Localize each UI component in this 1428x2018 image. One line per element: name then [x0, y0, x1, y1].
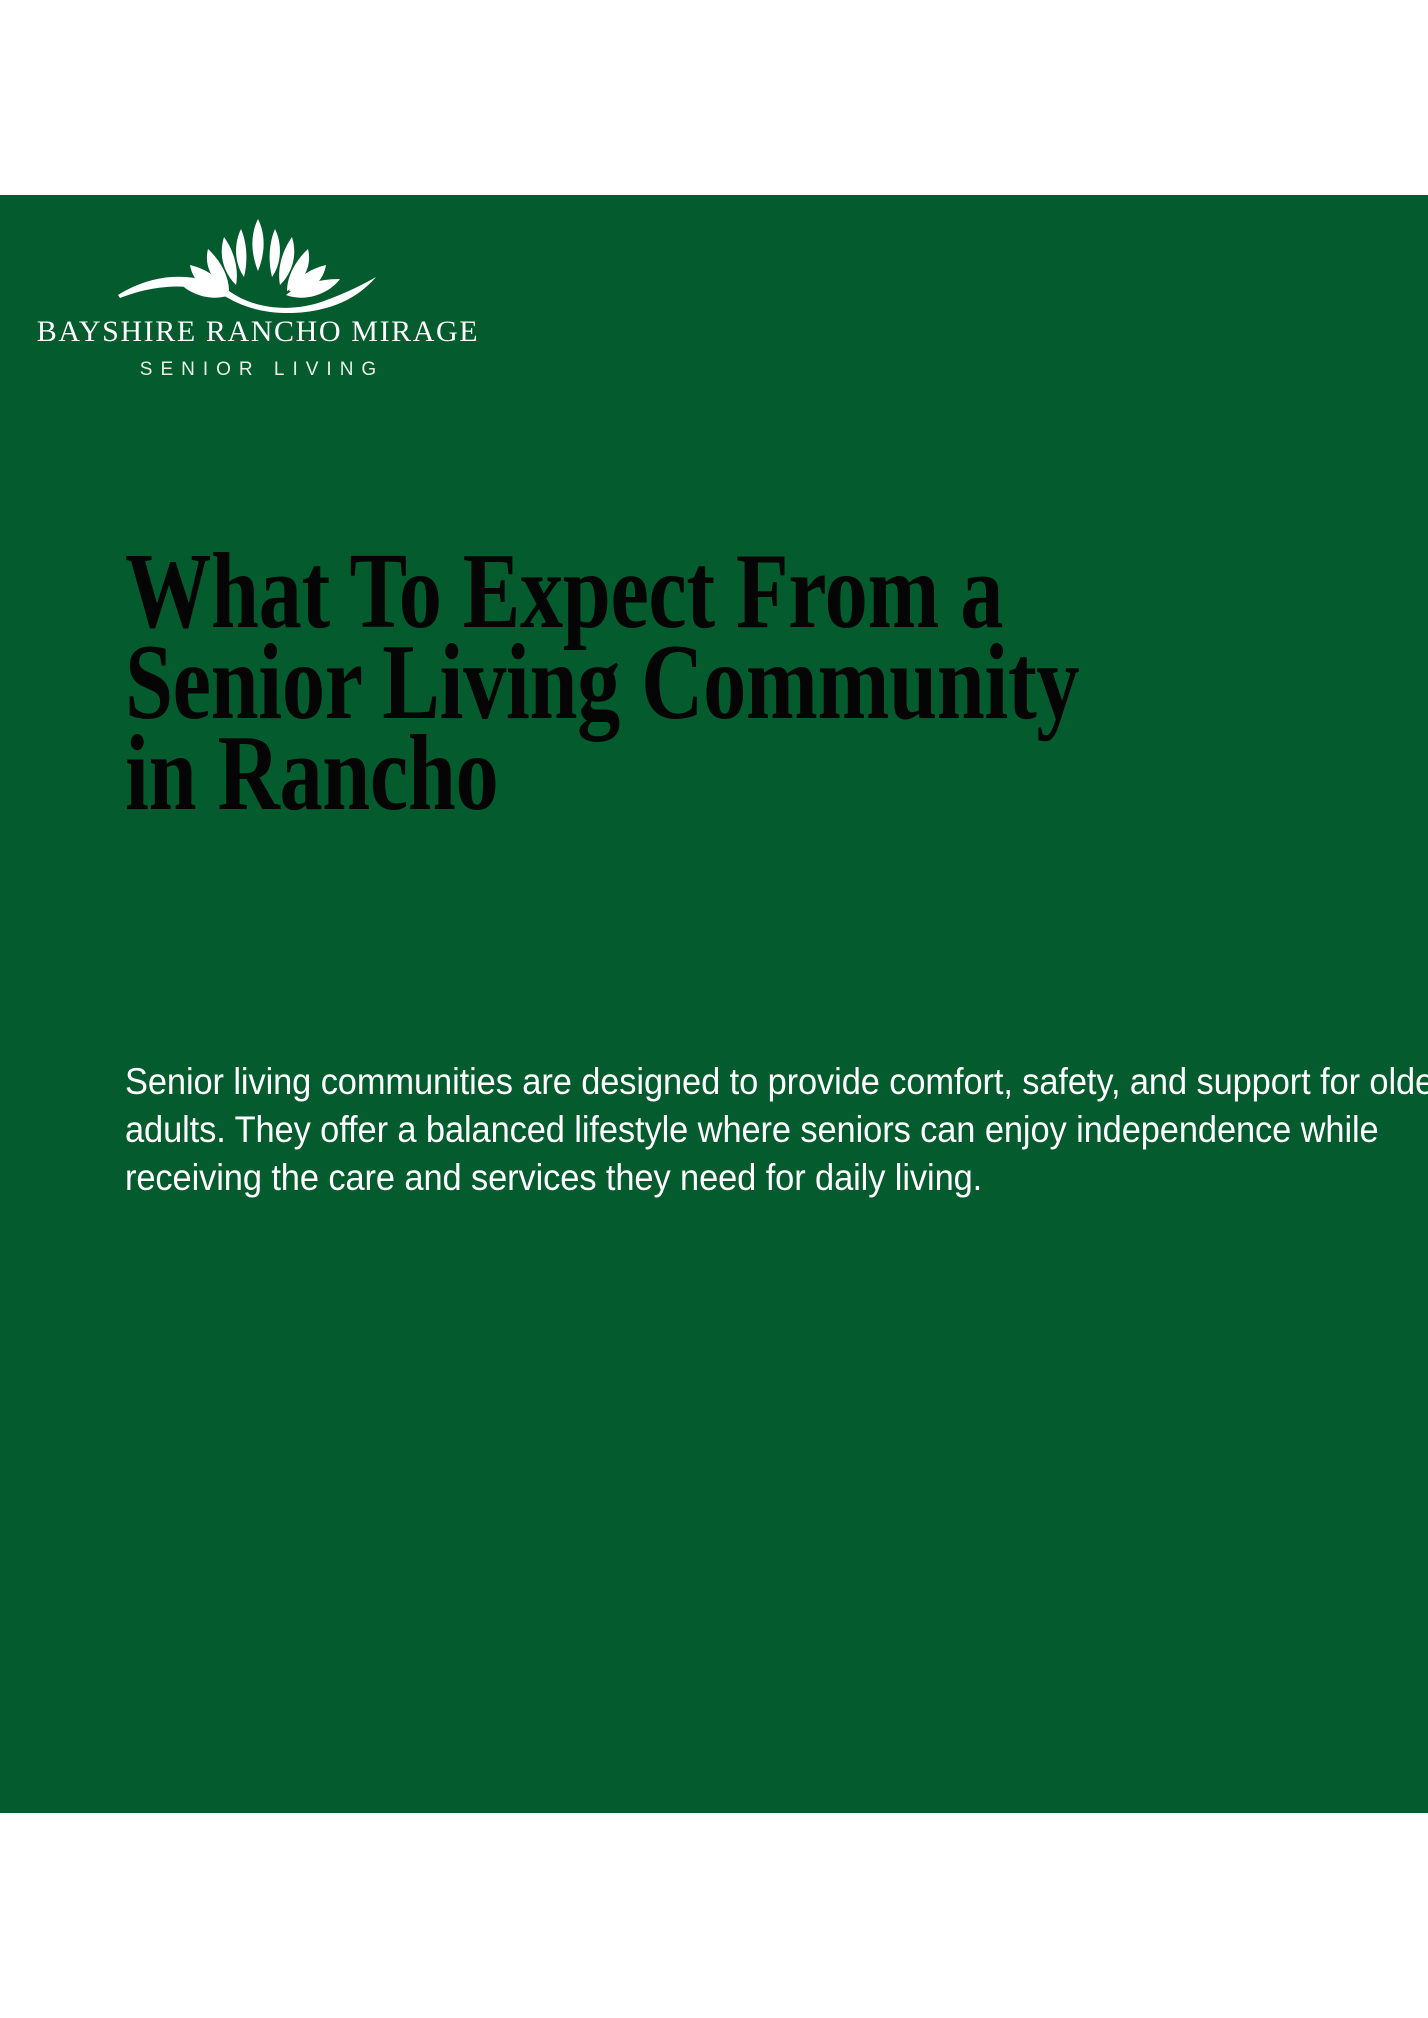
hero-body-text: Senior living communities are designed t…: [125, 1058, 1428, 1202]
lotus-flower-icon: [108, 213, 408, 313]
page-canvas: BAYSHIRE RANCHO MIRAGE SENIOR LIVING Wha…: [0, 0, 1428, 2018]
brand-lockup: BAYSHIRE RANCHO MIRAGE SENIOR LIVING: [28, 213, 488, 381]
page-title: What To Expect From a Senior Living Comm…: [125, 547, 1157, 819]
brand-name: BAYSHIRE RANCHO MIRAGE: [28, 317, 488, 347]
hero-panel: BAYSHIRE RANCHO MIRAGE SENIOR LIVING Wha…: [0, 195, 1428, 1813]
brand-tagline: SENIOR LIVING: [28, 359, 488, 381]
